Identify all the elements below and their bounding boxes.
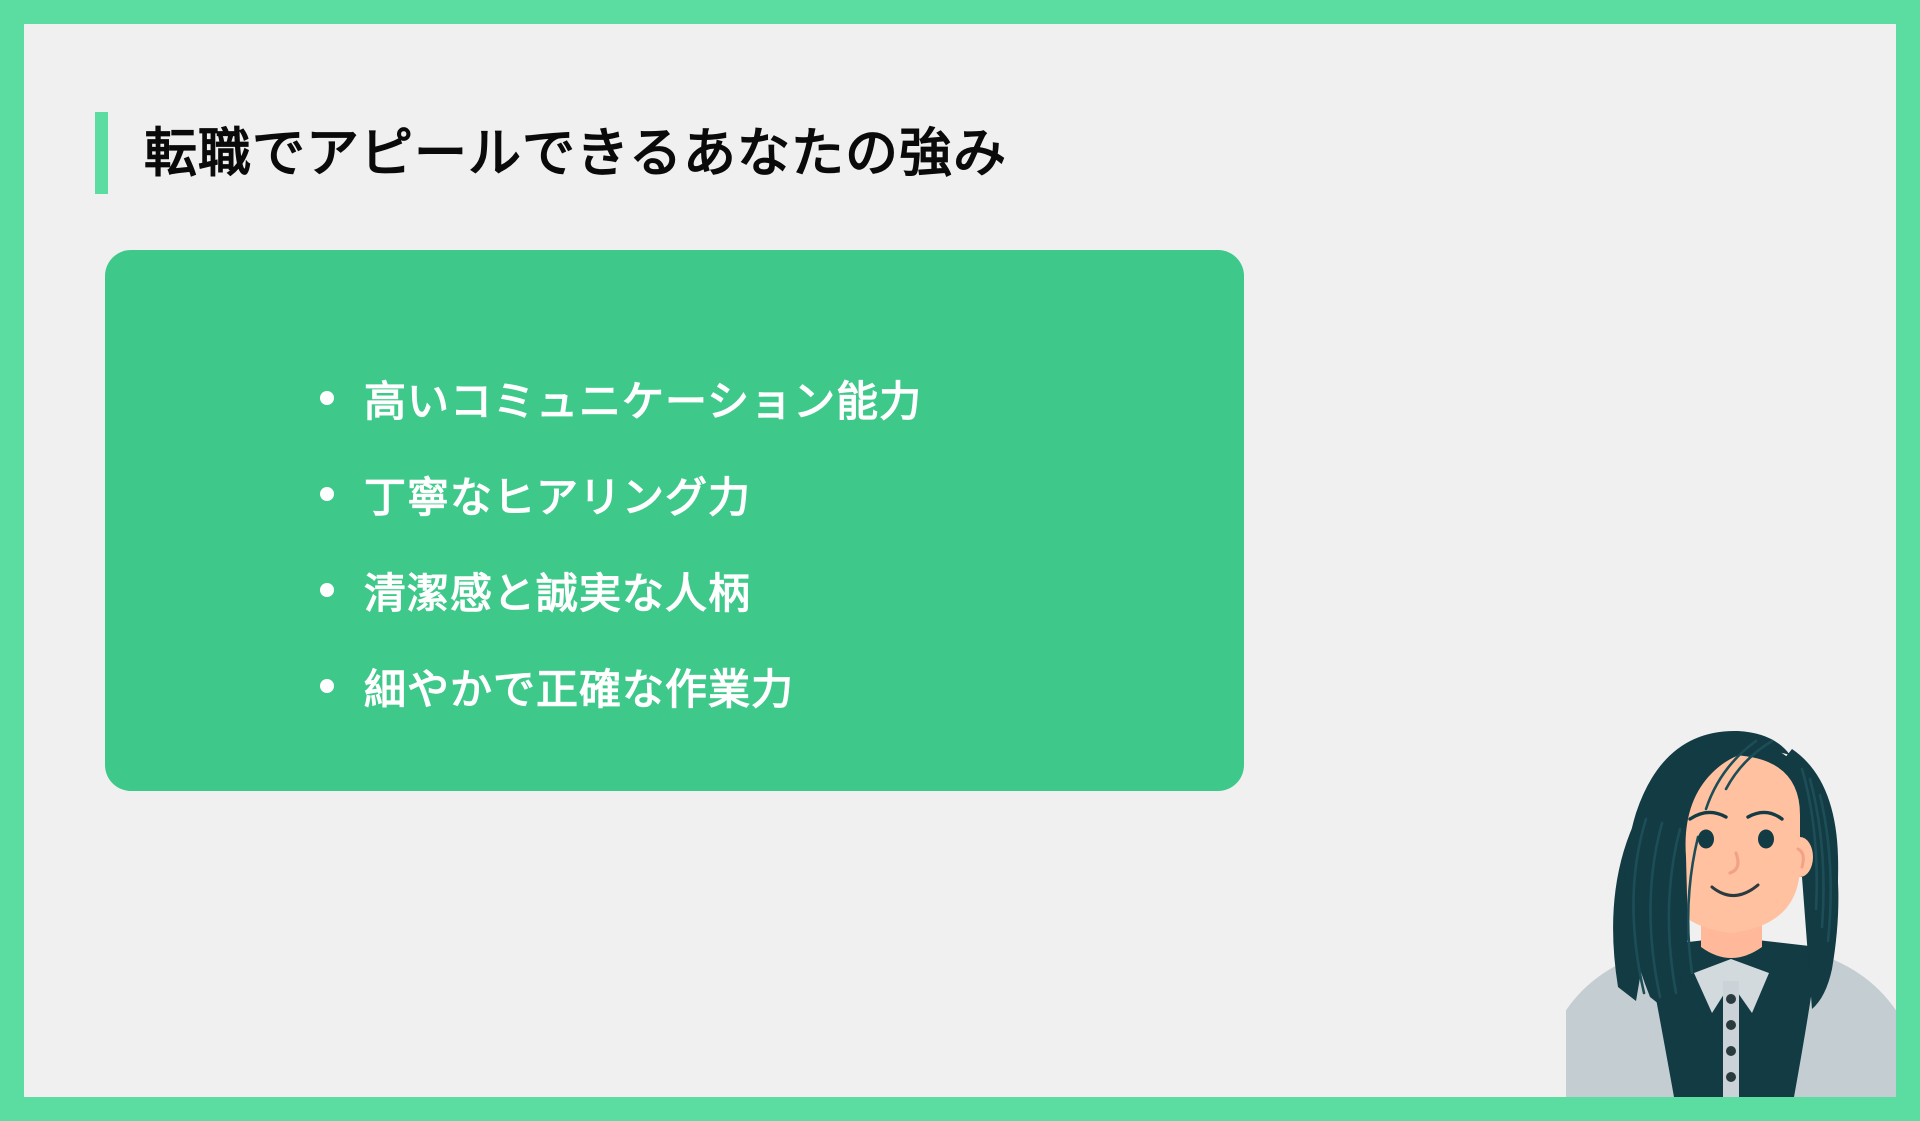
list-item-label: 高いコミュニケーション能力	[364, 368, 922, 429]
bullet-dot-icon	[320, 583, 334, 597]
list-item-label: 清潔感と誠実な人柄	[364, 560, 751, 621]
bullet-dot-icon	[320, 391, 334, 405]
list-item: 高いコミュニケーション能力	[320, 350, 922, 446]
list-item-label: 細やかで正確な作業力	[364, 656, 794, 717]
highlight-card: 高いコミュニケーション能力 丁寧なヒアリング力 清潔感と誠実な人柄 細やかで正確…	[105, 250, 1244, 791]
woman-portrait-svg	[1566, 697, 1896, 1097]
bullet-dot-icon	[320, 679, 334, 693]
page-title: 転職でアピールできるあなたの強み	[95, 112, 1007, 194]
bullet-dot-icon	[320, 487, 334, 501]
strengths-list: 高いコミュニケーション能力 丁寧なヒアリング力 清潔感と誠実な人柄 細やかで正確…	[320, 350, 922, 734]
title-accent-bar	[95, 112, 108, 194]
list-item: 清潔感と誠実な人柄	[320, 542, 922, 638]
slide-root: 転職でアピールできるあなたの強み 高いコミュニケーション能力 丁寧なヒアリング力…	[0, 0, 1920, 1121]
title-text: 転職でアピールできるあなたの強み	[108, 112, 1007, 194]
woman-portrait-illustration	[1566, 697, 1896, 1097]
list-item: 細やかで正確な作業力	[320, 638, 922, 734]
list-item: 丁寧なヒアリング力	[320, 446, 922, 542]
slide-canvas: 転職でアピールできるあなたの強み 高いコミュニケーション能力 丁寧なヒアリング力…	[24, 24, 1896, 1097]
list-item-label: 丁寧なヒアリング力	[364, 464, 751, 525]
